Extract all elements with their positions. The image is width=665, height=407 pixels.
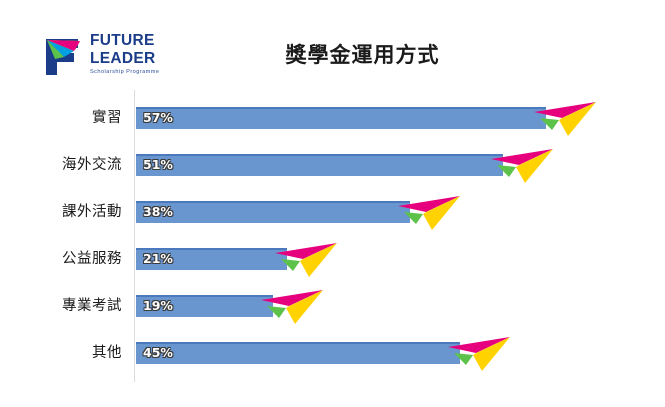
bar-category-label: 海外交流 [0, 156, 122, 174]
logo-subtitle: Scholarship Programme [90, 69, 182, 76]
bar-category-label: 課外活動 [0, 203, 122, 221]
bar-value-label: 38% [143, 205, 173, 219]
bar-container[interactable]: 21% [136, 248, 287, 270]
bar-row: 海外交流 51% [0, 141, 665, 188]
bar-value-label: 51% [143, 158, 173, 172]
bar-value-label: 19% [143, 299, 173, 313]
bar-container[interactable]: 51% [136, 154, 503, 176]
slide-canvas: FUTURE LEADER Scholarship Programme 獎學金運… [0, 0, 665, 407]
bar-fill[interactable] [136, 154, 503, 176]
bar-fill[interactable] [136, 201, 410, 223]
bar-value-label: 21% [143, 252, 173, 266]
bar-container[interactable]: 38% [136, 201, 410, 223]
bar-value-label: 45% [143, 346, 173, 360]
bar-category-label: 實習 [0, 109, 122, 127]
bar-container[interactable]: 19% [136, 295, 273, 317]
chart-title: 獎學金運用方式 [0, 42, 665, 68]
bar-fill[interactable] [136, 342, 460, 364]
bar-fill[interactable] [136, 107, 546, 129]
bar-row: 實習 57% [0, 94, 665, 141]
bar-row: 其他 45% [0, 329, 665, 376]
bar-container[interactable]: 57% [136, 107, 546, 129]
bar-chart: 實習 57% 海外交流 51% [0, 90, 665, 390]
bar-category-label: 專業考試 [0, 297, 122, 315]
bar-container[interactable]: 45% [136, 342, 460, 364]
bar-row: 課外活動 38% [0, 188, 665, 235]
bar-value-label: 57% [143, 111, 173, 125]
bar-category-label: 公益服務 [0, 250, 122, 268]
bar-category-label: 其他 [0, 344, 122, 362]
bar-row: 專業考試 19% [0, 282, 665, 329]
bar-row: 公益服務 21% [0, 235, 665, 282]
